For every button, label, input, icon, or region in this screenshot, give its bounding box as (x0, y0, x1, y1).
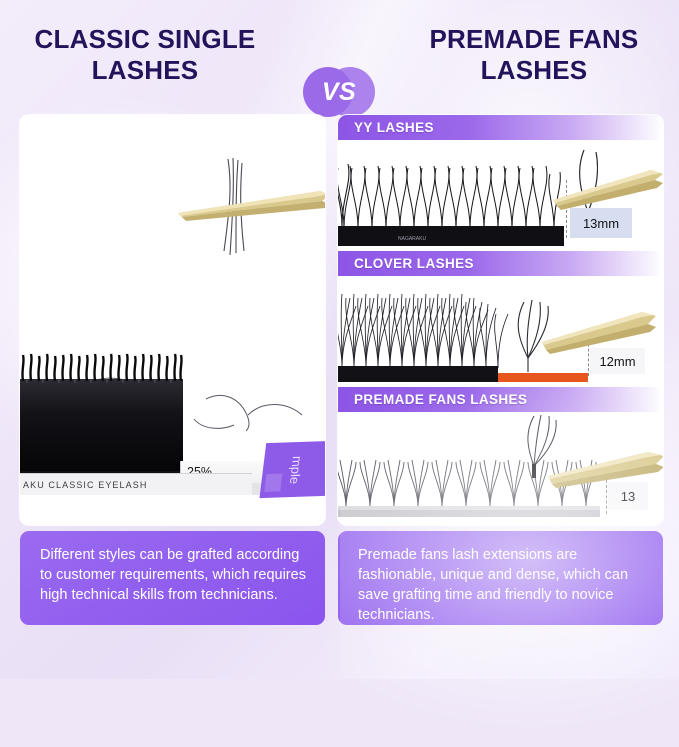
section-yy-lashes: YY LASHES (338, 115, 663, 251)
header: CLASSIC SINGLE LASHES VS PREMADE FANS LA… (0, 24, 679, 102)
svg-text:NAGARAKU: NAGARAKU (398, 236, 426, 242)
page-title-right: PREMADE FANS LASHES (403, 24, 665, 86)
tweezers-classic-illustration (170, 155, 325, 275)
infographic-page: CLASSIC SINGLE LASHES VS PREMADE FANS LA… (0, 0, 679, 679)
section-title-clover: CLOVER LASHES (338, 256, 474, 271)
section-body-clover: 12mm (338, 276, 663, 387)
tweezers-yy-illustration (543, 148, 663, 218)
clover-strip-orange (498, 373, 588, 382)
right-product-panel: YY LASHES (338, 115, 663, 525)
section-header-yy: YY LASHES (338, 115, 663, 140)
section-body-premade: 13 (338, 412, 663, 525)
tray-brand-label: AKU CLASSIC EYELASH (20, 473, 252, 495)
tweezers-clover-illustration (538, 298, 658, 368)
section-header-premade: PREMADE FANS LASHES (338, 387, 663, 412)
section-body-yy: NAGARAKU 13mm (338, 140, 663, 251)
vs-label: VS (303, 67, 375, 117)
sample-sticker: mple (259, 441, 325, 498)
section-clover-lashes: CLOVER LASHES (338, 251, 663, 387)
left-caption: Different styles can be grafted accordin… (20, 531, 325, 625)
left-product-panel: 25% AKU CLASSIC EYELASH mple (20, 115, 325, 525)
section-header-clover: CLOVER LASHES (338, 251, 663, 276)
sample-sticker-text: mple (287, 455, 306, 484)
section-title-premade: PREMADE FANS LASHES (338, 392, 527, 407)
tray-brand-text: AKU CLASSIC EYELASH (23, 480, 147, 490)
section-premade-fans-lashes: PREMADE FANS LASHES (338, 387, 663, 525)
tweezers-premade-illustration (548, 442, 663, 506)
right-caption: Premade fans lash extensions are fashion… (338, 531, 663, 625)
page-title-left: CLASSIC SINGLE LASHES (14, 24, 276, 86)
vs-badge: VS (303, 67, 375, 117)
section-title-yy: YY LASHES (338, 120, 434, 135)
sticker-gloss (264, 473, 282, 492)
classic-lash-tray-illustration (20, 353, 183, 473)
